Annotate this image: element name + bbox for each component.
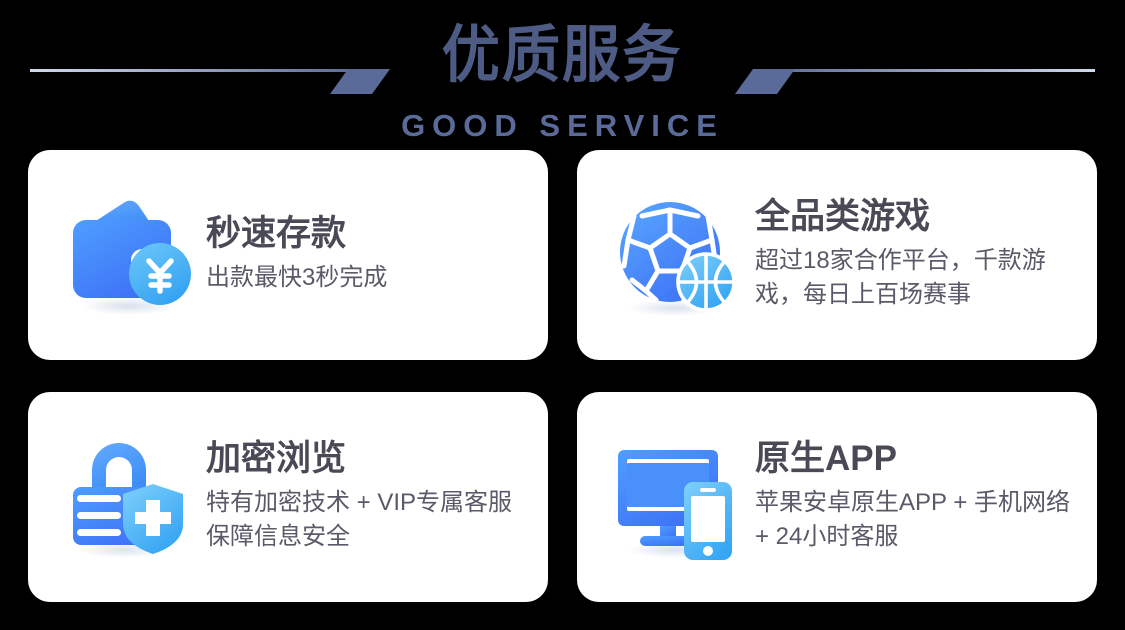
page-title: 优质服务 <box>442 9 683 87</box>
card-title: 全品类游戏 <box>755 198 1083 237</box>
card-title: 秒速存款 <box>206 215 387 254</box>
lock-shield-icon <box>58 427 198 567</box>
card-text-block: 秒速存款 出款最快3秒完成 <box>198 215 401 296</box>
feature-card-encryption[interactable]: 加密浏览 特有加密技术 + VIP专属客服保障信息安全 <box>28 392 548 602</box>
feature-card-deposit[interactable]: 秒速存款 出款最快3秒完成 <box>28 150 548 360</box>
feature-card-native-app[interactable]: 原生APP 苹果安卓原生APP + 手机网络 + 24小时客服 <box>577 392 1097 602</box>
card-subtitle: 苹果安卓原生APP + 手机网络 + 24小时客服 <box>755 486 1083 554</box>
card-title: 加密浏览 <box>206 440 534 479</box>
card-subtitle: 超过18家合作平台，千款游戏，每日上百场赛事 <box>755 244 1083 312</box>
card-text-block: 加密浏览 特有加密技术 + VIP专属客服保障信息安全 <box>198 440 548 555</box>
wallet-coin-icon <box>58 185 198 325</box>
monitor-phone-icon <box>607 427 747 567</box>
page-subtitle: GOOD SERVICE <box>401 110 724 141</box>
soccer-basketball-icon <box>607 185 747 325</box>
card-subtitle: 特有加密技术 + VIP专属客服保障信息安全 <box>206 486 534 554</box>
page-header: 优质服务 GOOD SERVICE <box>0 0 1125 142</box>
feature-card-games[interactable]: 全品类游戏 超过18家合作平台，千款游戏，每日上百场赛事 <box>577 150 1097 360</box>
header-decoration-left <box>0 60 390 94</box>
header-decoration-right <box>735 60 1125 94</box>
header-title-row: 优质服务 <box>0 0 1125 96</box>
feature-card-grid: 秒速存款 出款最快3秒完成 <box>28 150 1097 602</box>
card-text-block: 原生APP 苹果安卓原生APP + 手机网络 + 24小时客服 <box>747 440 1097 555</box>
card-text-block: 全品类游戏 超过18家合作平台，千款游戏，每日上百场赛事 <box>747 198 1097 313</box>
card-title: 原生APP <box>755 440 1083 479</box>
card-subtitle: 出款最快3秒完成 <box>206 261 387 295</box>
